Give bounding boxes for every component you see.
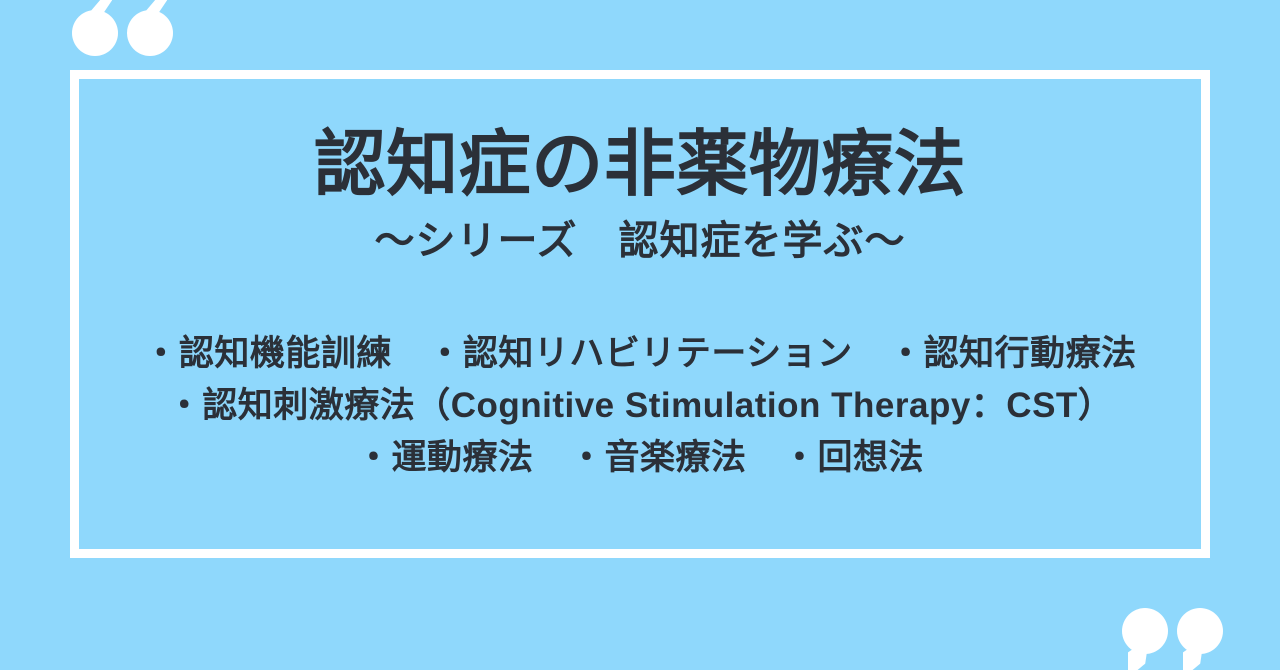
page-subtitle: 〜シリーズ 認知症を学ぶ〜: [375, 221, 906, 261]
slide-canvas: 認知症の非薬物療法 〜シリーズ 認知症を学ぶ〜 ・認知機能訓練 ・認知リハビリテ…: [0, 0, 1280, 670]
therapy-line: ・認知刺激療法（Cognitive Stimulation Therapy：CS…: [167, 380, 1114, 432]
therapy-list: ・認知機能訓練 ・認知リハビリテーション ・認知行動療法 ・認知刺激療法（Cog…: [0, 328, 1280, 484]
therapy-line: ・認知機能訓練 ・認知リハビリテーション ・認知行動療法: [143, 328, 1136, 380]
page-title: 認知症の非薬物療法: [314, 129, 967, 201]
therapy-line: ・運動療法 ・音楽療法 ・回想法: [356, 432, 924, 484]
content-container: 認知症の非薬物療法 〜シリーズ 認知症を学ぶ〜 ・認知機能訓練 ・認知リハビリテ…: [0, 0, 1280, 670]
